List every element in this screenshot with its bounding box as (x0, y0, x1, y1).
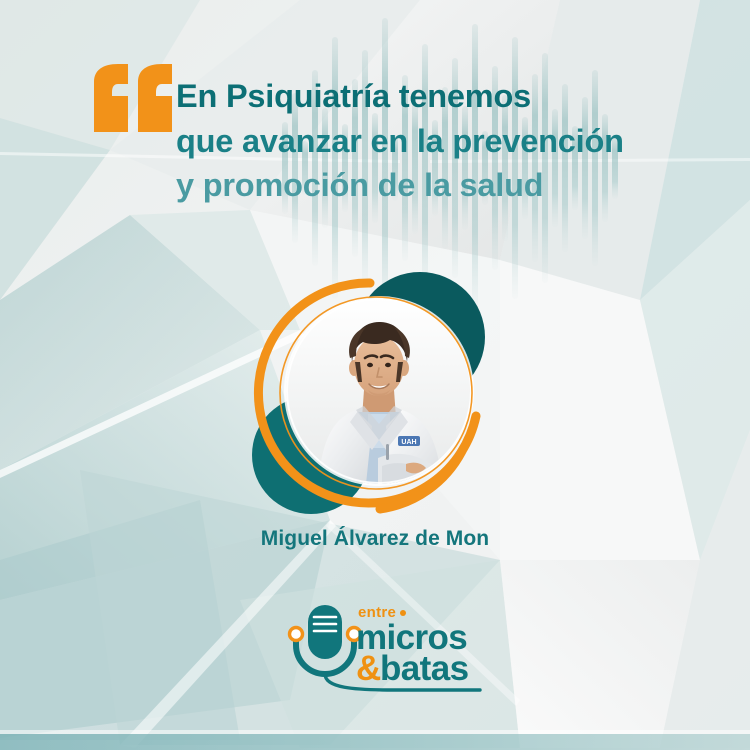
quote-card-poster: En Psiquiatría tenemos que avanzar en la… (0, 0, 750, 750)
quotation-mark-icon (92, 62, 174, 134)
speaker-name: Miguel Álvarez de Mon (0, 527, 750, 551)
quote-line-2: que avanzar en la prevención (176, 119, 736, 164)
logo-dot-icon (400, 610, 406, 616)
speaker-photo: UAH (286, 298, 472, 484)
logo-word-batas: batas (380, 649, 468, 689)
quote-headline: En Psiquiatría tenemos que avanzar en la… (176, 74, 736, 208)
svg-text:UAH: UAH (401, 439, 416, 446)
portrait-composition: UAH (248, 268, 504, 520)
quote-line-1: En Psiquiatría tenemos (176, 74, 736, 119)
logo-wordmark: entre micros & batas (356, 604, 486, 688)
quote-line-3: y promoción de la salud (176, 163, 736, 208)
brand-logo[interactable]: entre micros & batas (284, 600, 484, 692)
logo-word-ampersand: & (356, 649, 381, 689)
